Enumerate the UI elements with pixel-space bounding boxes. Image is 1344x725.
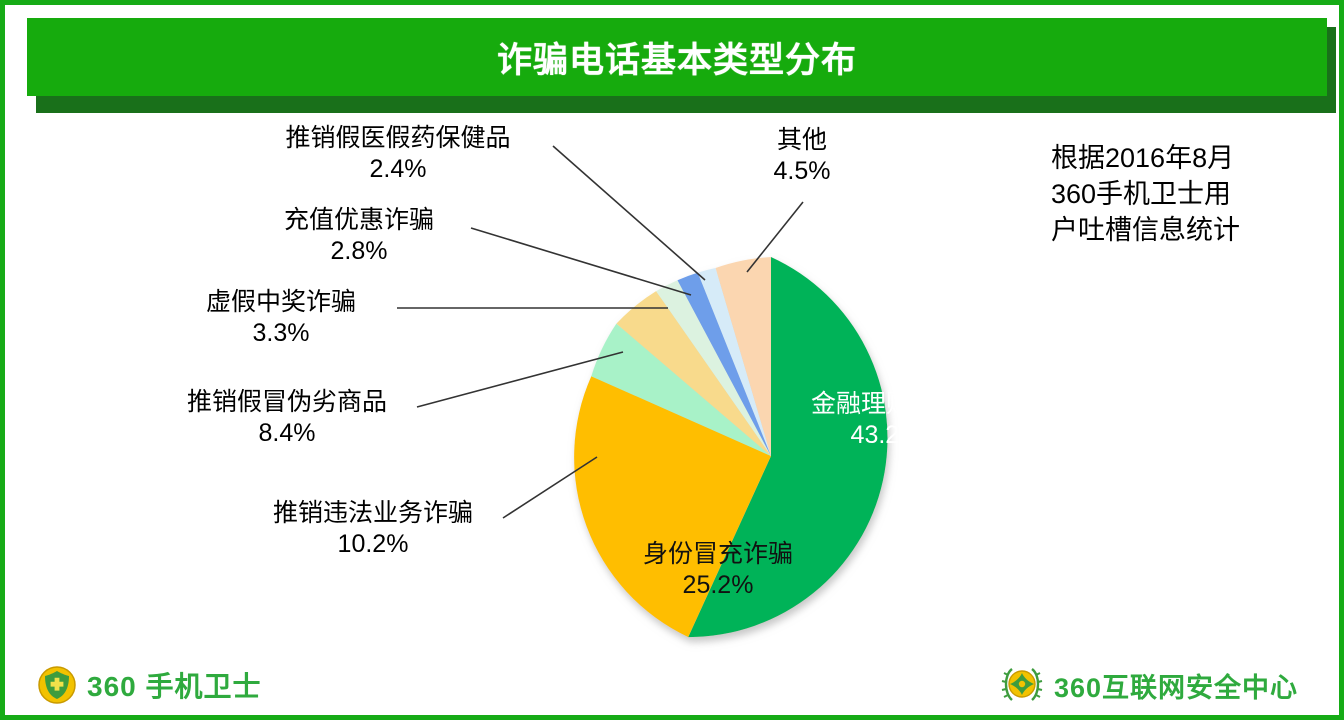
- 360-shield-icon: [37, 665, 77, 705]
- callout-fake-prize: 虚假中奖诈骗 3.3%: [165, 287, 397, 348]
- page-title: 诈骗电话基本类型分布: [497, 32, 857, 83]
- source-note: 根据2016年8月 360手机卫士用 户吐槽信息统计: [1051, 141, 1240, 249]
- callout-fake-prize-name: 虚假中奖诈骗: [206, 288, 356, 316]
- callout-fake-medicine-name: 推销假医假药保健品: [285, 124, 510, 152]
- footer: 360 手机卫士 360互联网安全中心: [5, 657, 1344, 725]
- title-banner: 诈骗电话基本类型分布: [5, 5, 1344, 117]
- logo-360-mobile-guard-text: 360 手机卫士: [87, 665, 262, 705]
- callout-illegal-business-pct: 10.2%: [243, 529, 503, 560]
- callout-fake-medicine-pct: 2.4%: [243, 154, 553, 185]
- callout-other-pct: 4.5%: [711, 156, 893, 187]
- source-note-line-1: 根据2016年8月: [1051, 141, 1240, 177]
- 360-laurel-icon: [1000, 663, 1044, 707]
- slice-label-identity-fraud: 身份冒充诈骗 25.2%: [623, 539, 813, 602]
- callout-illegal-business-name: 推销违法业务诈骗: [273, 499, 473, 527]
- source-note-line-3: 户吐槽信息统计: [1051, 213, 1240, 249]
- title-banner-body: 诈骗电话基本类型分布: [27, 18, 1327, 96]
- callout-recharge-discount-name: 充值优惠诈骗: [284, 206, 434, 234]
- logo-360-security-center-text: 360互联网安全中心: [1054, 666, 1298, 705]
- callout-fake-medicine: 推销假医假药保健品 2.4%: [243, 123, 553, 184]
- callout-other-name: 其他: [777, 126, 827, 154]
- callout-fake-prize-pct: 3.3%: [165, 318, 397, 349]
- callout-illegal-business: 推销违法业务诈骗 10.2%: [243, 498, 503, 559]
- slice-label-financial-fraud-name: 金融理财诈骗: [791, 389, 981, 420]
- slice-label-identity-fraud-name: 身份冒充诈骗: [623, 539, 813, 570]
- callout-recharge-discount: 充值优惠诈骗 2.8%: [243, 205, 475, 266]
- callout-counterfeit-goods-pct: 8.4%: [157, 418, 417, 449]
- slice-label-financial-fraud-pct: 43.2%: [791, 420, 981, 451]
- source-note-line-2: 360手机卫士用: [1051, 177, 1240, 213]
- callout-counterfeit-goods-name: 推销假冒伪劣商品: [187, 388, 387, 416]
- callout-other: 其他 4.5%: [711, 125, 893, 186]
- slice-label-identity-fraud-pct: 25.2%: [623, 570, 813, 601]
- logo-360-mobile-guard[interactable]: 360 手机卫士: [37, 665, 262, 705]
- callout-recharge-discount-pct: 2.8%: [243, 236, 475, 267]
- page-frame: 诈骗电话基本类型分布: [0, 0, 1344, 720]
- slice-label-financial-fraud: 金融理财诈骗 43.2%: [791, 389, 981, 452]
- callout-counterfeit-goods: 推销假冒伪劣商品 8.4%: [157, 387, 417, 448]
- logo-360-security-center[interactable]: 360互联网安全中心: [1000, 663, 1298, 707]
